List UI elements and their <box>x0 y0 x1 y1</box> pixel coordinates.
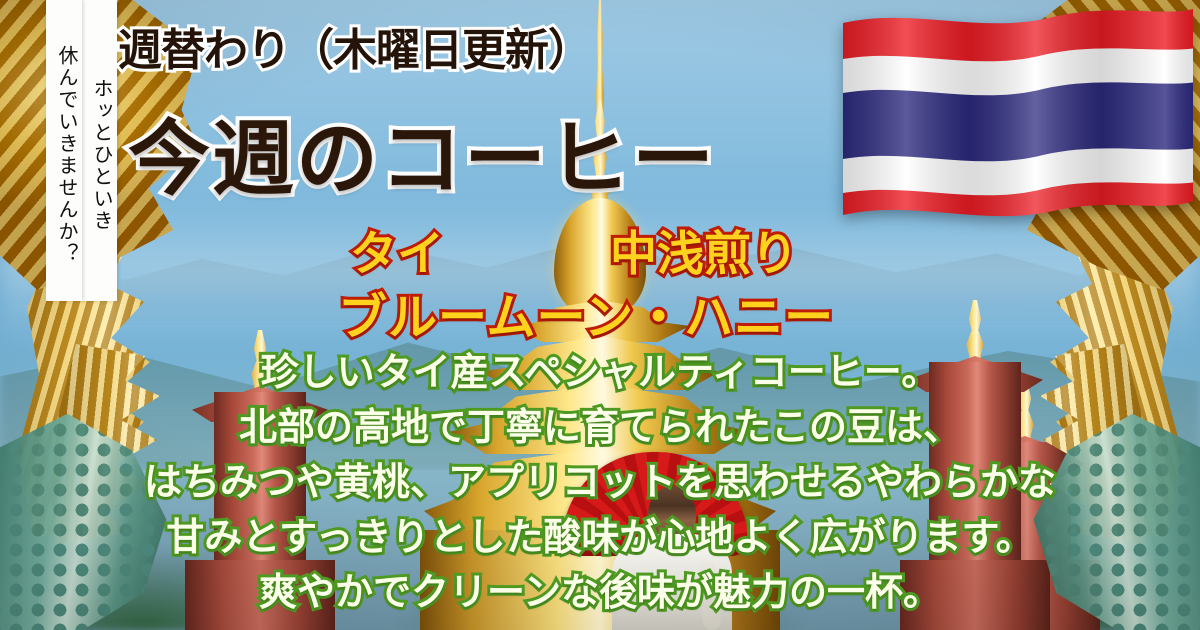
description-line: 爽やかでクリーンな後味が魅力の一杯。 <box>0 565 1200 620</box>
poster-canvas: ホッとひといき 休んでいきませんか？ 週替わり（木曜日更新） 今週のコーヒー タ… <box>0 0 1200 630</box>
description-line: 北部の高地で丁寧に育てられたこの豆は、 <box>0 400 1200 455</box>
coffee-origin-label: タイ <box>350 215 444 284</box>
thailand-flag-icon <box>843 5 1193 227</box>
description-line: 甘みとすっきりとした酸味が心地よく広がります。 <box>0 510 1200 565</box>
coffee-description: 珍しいタイ産スペシャルティコーヒー。 北部の高地で丁寧に育てられたこの豆は、 は… <box>0 345 1200 620</box>
coffee-roast-label: 中浅煎り <box>610 215 798 284</box>
vertical-banner-left: 休んでいきませんか？ <box>46 0 82 301</box>
kicker-text: 週替わり（木曜日更新） <box>118 14 591 78</box>
coffee-name-label: ブルームーン・ハニー <box>338 278 834 349</box>
vertical-banner-right: ホッとひといき <box>81 0 117 301</box>
page-title: 今週のコーヒー <box>128 92 716 211</box>
description-line: 珍しいタイ産スペシャルティコーヒー。 <box>0 345 1200 400</box>
description-line: はちみつや黄桃、アプリコットを思わせるやわらかな <box>0 455 1200 510</box>
